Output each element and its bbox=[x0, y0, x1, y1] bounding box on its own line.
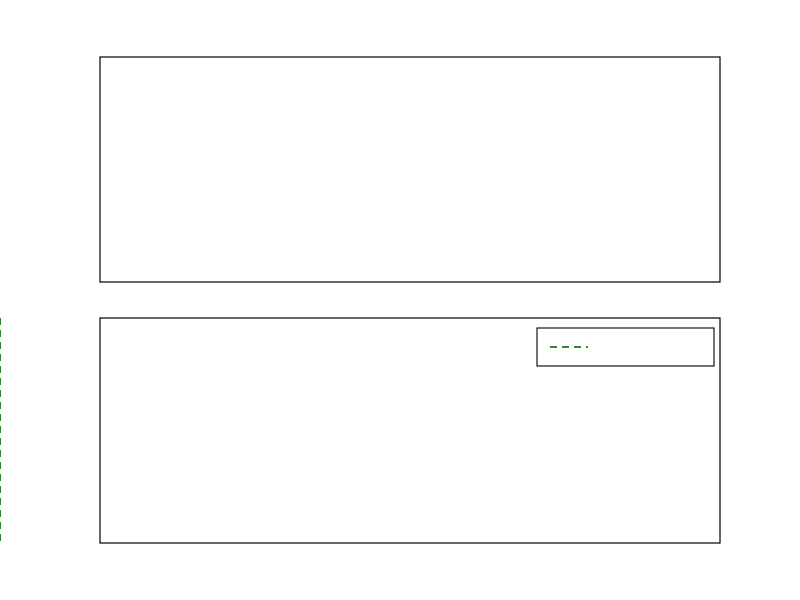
matplotlib-figure bbox=[0, 0, 800, 600]
figure-canvas bbox=[0, 0, 800, 600]
top-axes bbox=[100, 57, 720, 282]
legend[interactable] bbox=[537, 328, 714, 366]
top-plot-background bbox=[100, 57, 720, 282]
bottom-axes bbox=[0, 318, 720, 543]
